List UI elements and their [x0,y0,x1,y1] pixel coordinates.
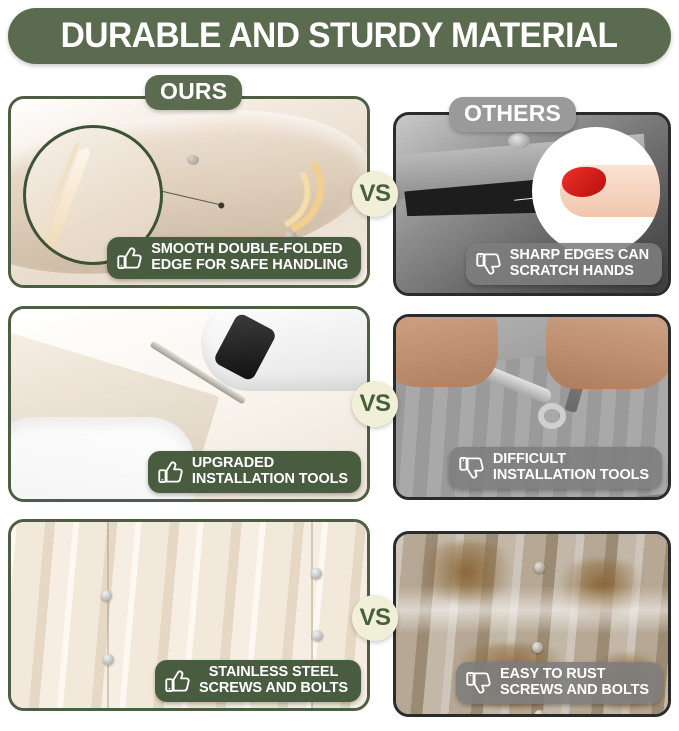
magnifier-inset-cut-finger [532,127,660,255]
tag-ours: OURS [145,75,242,110]
panel-others-installation-tools: DIFFICULT INSTALLATION TOOLS [393,314,671,500]
header-banner: DURABLE AND STURDY MATERIAL [8,8,671,64]
thumbs-up-icon [116,244,144,272]
comparison-row-edge-safety: SMOOTH DOUBLE-FOLDED EDGE FOR SAFE HANDL… [0,96,679,296]
caption-others-edge-safety: SHARP EDGES CAN SCRATCH HANDS [466,243,662,285]
thumbs-down-icon [465,669,493,697]
panel-ours-installation-tools: UPGRADED INSTALLATION TOOLS [8,306,370,502]
panel-ours-edge-safety: SMOOTH DOUBLE-FOLDED EDGE FOR SAFE HANDL… [8,96,370,288]
caption-text: SMOOTH DOUBLE-FOLDED EDGE FOR SAFE HANDL… [151,242,348,273]
vs-badge-row-3: VS [352,595,398,641]
thumbs-down-icon [458,454,486,482]
caption-text: DIFFICULT INSTALLATION TOOLS [493,452,649,483]
caption-text: STAINLESS STEEL SCREWS AND BOLTS [199,665,348,696]
caption-others-installation-tools: DIFFICULT INSTALLATION TOOLS [449,447,662,489]
caption-ours-installation-tools: UPGRADED INSTALLATION TOOLS [148,451,361,493]
caption-ours-edge-safety: SMOOTH DOUBLE-FOLDED EDGE FOR SAFE HANDL… [107,237,361,279]
vs-badge-row-1: VS [352,171,398,217]
thumbs-down-icon [475,250,503,278]
caption-others-fasteners: EASY TO RUST SCREWS AND BOLTS [456,662,662,704]
caption-ours-fasteners: STAINLESS STEEL SCREWS AND BOLTS [155,660,361,702]
thumbs-up-icon [164,667,192,695]
panel-others-fasteners: EASY TO RUST SCREWS AND BOLTS [393,531,671,717]
panel-others-edge-safety: SHARP EDGES CAN SCRATCH HANDS [393,112,671,296]
panel-ours-fasteners: STAINLESS STEEL SCREWS AND BOLTS [8,519,370,711]
caption-text: UPGRADED INSTALLATION TOOLS [192,456,348,487]
thumbs-up-icon [157,458,185,486]
vs-badge-row-2: VS [352,381,398,427]
comparison-row-installation-tools: UPGRADED INSTALLATION TOOLS DIFFICULT IN… [0,306,679,509]
page-title: DURABLE AND STURDY MATERIAL [61,16,618,56]
comparison-row-fasteners: STAINLESS STEEL SCREWS AND BOLTS EASY TO… [0,519,679,722]
caption-text: EASY TO RUST SCREWS AND BOLTS [500,667,649,698]
tag-others: OTHERS [449,97,576,132]
caption-text: SHARP EDGES CAN SCRATCH HANDS [510,248,649,279]
